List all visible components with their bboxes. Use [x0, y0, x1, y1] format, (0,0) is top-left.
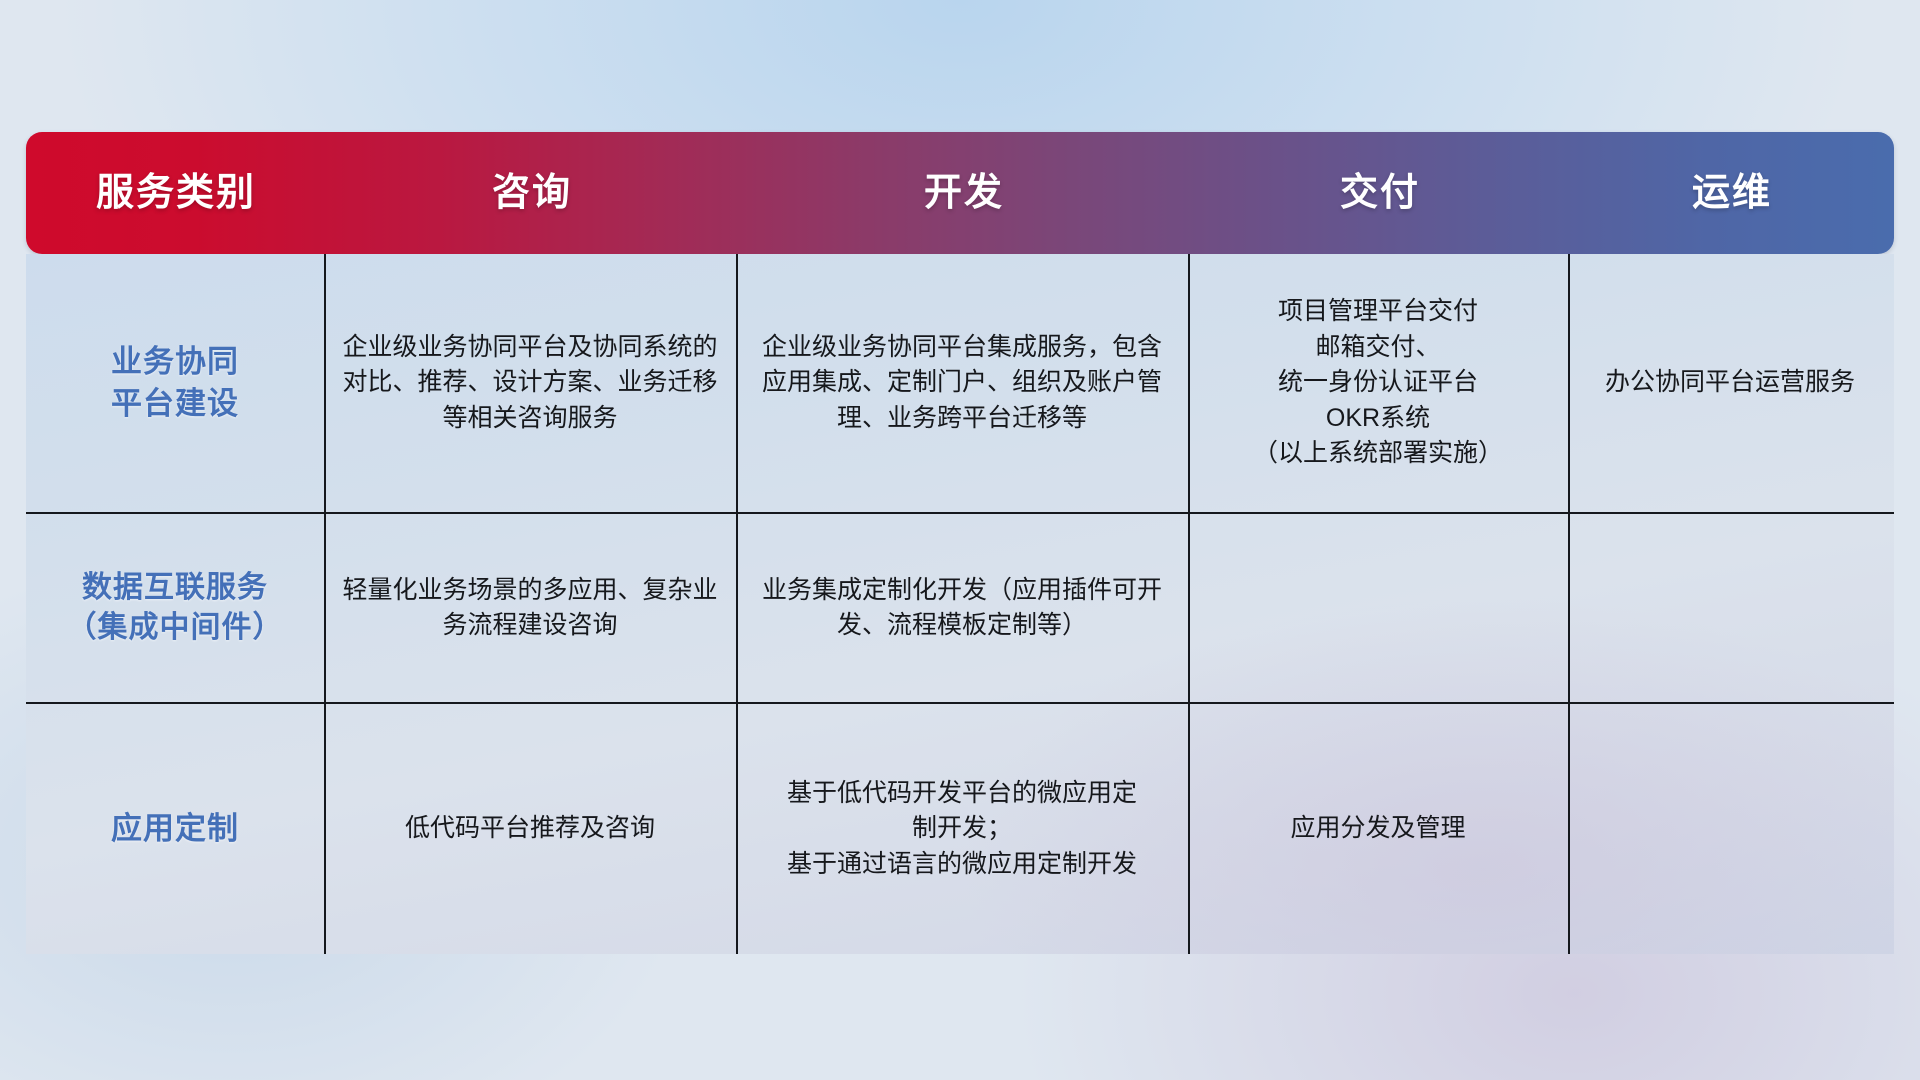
table-body: 业务协同 平台建设 企业级业务协同平台及协同系统的对比、推荐、设计方案、业务迁移… [26, 254, 1894, 954]
cell-r3-delivery: 应用分发及管理 [1188, 704, 1568, 954]
cell-r3-operations [1568, 704, 1892, 954]
cell-r1-delivery: 项目管理平台交付 邮箱交付、 统一身份认证平台 OKR系统 （以上系统部署实施） [1188, 254, 1568, 512]
row-label-app-customization: 应用定制 [26, 704, 324, 954]
service-matrix-table: 服务类别 咨询 开发 交付 运维 业务协同 平台建设 [26, 132, 1894, 954]
development-line: 基于通过语言的微应用定制开发 [787, 850, 1137, 878]
cell-r2-operations [1568, 514, 1892, 702]
delivery-line: （以上系统部署实施） [1253, 439, 1503, 467]
cell-r3-consulting: 低代码平台推荐及咨询 [324, 704, 736, 954]
row-label-data-interconnect: 数据互联服务 （集成中间件） [26, 514, 324, 702]
delivery-line: 项目管理平台交付 [1278, 297, 1478, 325]
row-label-line: 业务协同 [111, 344, 239, 379]
row-label-line: 数据互联服务 [82, 571, 268, 604]
table-header-row: 服务类别 咨询 开发 交付 运维 [26, 132, 1894, 254]
development-line: 制开发； [912, 814, 1012, 842]
table-row: 应用定制 低代码平台推荐及咨询 基于低代码开发平台的微应用定 制开发； 基于通过… [26, 704, 1894, 954]
row-label-business-collaboration: 业务协同 平台建设 [26, 254, 324, 512]
row-label-line: 应用定制 [111, 808, 239, 850]
cell-r2-delivery [1188, 514, 1568, 702]
table-row: 业务协同 平台建设 企业级业务协同平台及协同系统的对比、推荐、设计方案、业务迁移… [26, 254, 1894, 512]
column-header-development: 开发 [738, 174, 1190, 212]
row-label-line: 平台建设 [111, 386, 239, 421]
cell-r1-consulting: 企业级业务协同平台及协同系统的对比、推荐、设计方案、业务迁移等相关咨询服务 [324, 254, 736, 512]
slide-canvas: 服务类别 咨询 开发 交付 运维 业务协同 平台建设 [0, 0, 1920, 1080]
cell-r1-operations: 办公协同平台运营服务 [1568, 254, 1892, 512]
column-header-delivery: 交付 [1190, 174, 1570, 212]
cell-r2-consulting: 轻量化业务场景的多应用、复杂业务流程建设咨询 [324, 514, 736, 702]
row-label-line: （集成中间件） [67, 611, 284, 644]
delivery-line: 统一身份认证平台 [1278, 368, 1478, 396]
table-row: 数据互联服务 （集成中间件） 轻量化业务场景的多应用、复杂业务流程建设咨询 业务… [26, 514, 1894, 702]
column-header-operations: 运维 [1570, 174, 1894, 212]
cell-r1-development: 企业级业务协同平台集成服务，包含应用集成、定制门户、组织及账户管理、业务跨平台迁… [736, 254, 1188, 512]
cell-r2-development: 业务集成定制化开发（应用插件可开发、流程模板定制等） [736, 514, 1188, 702]
column-header-category: 服务类别 [26, 174, 326, 212]
delivery-line: 邮箱交付、 [1315, 333, 1440, 361]
delivery-line: OKR系统 [1326, 404, 1430, 432]
cell-r3-development: 基于低代码开发平台的微应用定 制开发； 基于通过语言的微应用定制开发 [736, 704, 1188, 954]
development-line: 基于低代码开发平台的微应用定 [787, 779, 1137, 807]
column-header-consulting: 咨询 [326, 174, 738, 212]
